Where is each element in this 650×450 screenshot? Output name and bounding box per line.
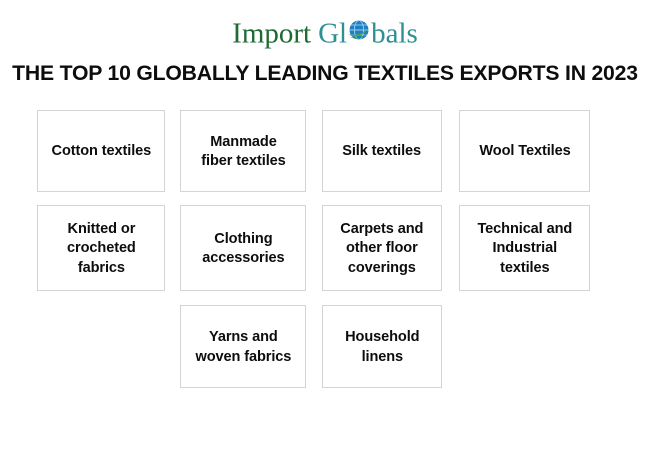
category-box-manmade-fiber-textiles[interactable]: Manmade fiber textiles bbox=[180, 110, 306, 192]
category-label: Wool Textiles bbox=[479, 141, 570, 160]
category-box-technical-and-industrial-textiles[interactable]: Technical and Industrial textiles bbox=[459, 205, 590, 291]
category-label: Yarns and woven fabrics bbox=[195, 327, 291, 365]
category-box-cotton-textiles[interactable]: Cotton textiles bbox=[37, 110, 165, 192]
category-box-yarns-and-woven-fabrics[interactable]: Yarns and woven fabrics bbox=[180, 305, 306, 388]
category-box-silk-textiles[interactable]: Silk textiles bbox=[322, 110, 442, 192]
category-label: Silk textiles bbox=[343, 141, 422, 160]
category-label: Manmade fiber textiles bbox=[201, 132, 285, 170]
slide-canvas: Import Gl bals THE TOP 10 GLOBALLY LEADI… bbox=[0, 0, 650, 450]
category-label: Carpets and other floor coverings bbox=[340, 219, 423, 277]
category-box-knitted-or-crocheted-fabrics[interactable]: Knitted or crocheted fabrics bbox=[37, 205, 165, 291]
category-label: Clothing accessories bbox=[202, 229, 284, 267]
category-label: Technical and Industrial textiles bbox=[477, 219, 572, 277]
category-box-household-linens[interactable]: Household linens bbox=[322, 305, 442, 388]
category-label: Cotton textiles bbox=[51, 141, 151, 160]
category-box-carpets-and-other-floor-coverings[interactable]: Carpets and other floor coverings bbox=[322, 205, 442, 291]
category-label: Household linens bbox=[345, 327, 419, 365]
category-grid: Cotton textiles Manmade fiber textiles S… bbox=[0, 0, 650, 450]
category-box-wool-textiles[interactable]: Wool Textiles bbox=[459, 110, 590, 192]
category-label: Knitted or crocheted fabrics bbox=[67, 219, 136, 277]
category-box-clothing-accessories[interactable]: Clothing accessories bbox=[180, 205, 306, 291]
